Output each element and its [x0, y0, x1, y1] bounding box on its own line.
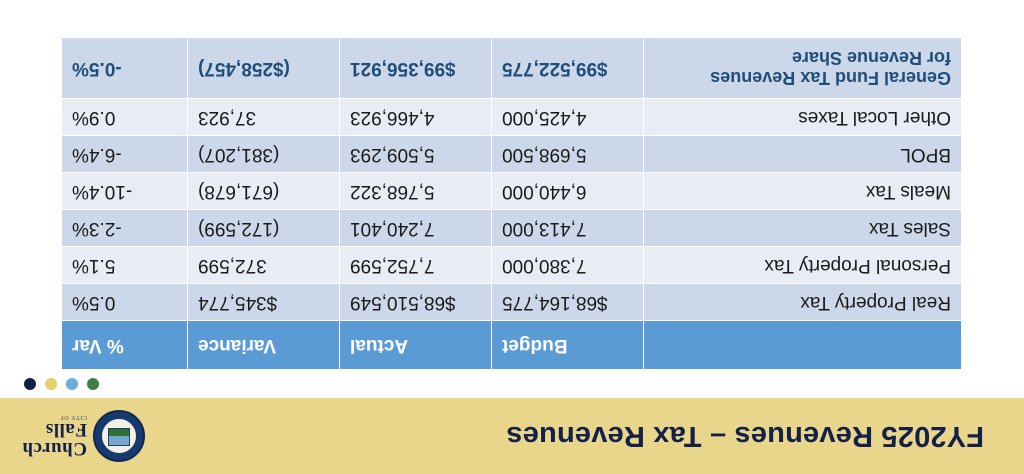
row-variance: (172,599): [188, 210, 340, 247]
table-row: Sales Tax 7,413,000 7,240,401 (172,599) …: [62, 210, 962, 247]
row-budget: 4,425,000: [492, 99, 644, 136]
column-header-budget: Budget: [492, 321, 644, 370]
table-total-row: General Fund Tax Revenues for Revenue Sh…: [62, 38, 962, 99]
city-seal-icon: [93, 410, 145, 462]
table-row: Real Property Tax $68,164,775 $68,510,54…: [62, 284, 962, 321]
table-row: Personal Property Tax 7,380,000 7,752,59…: [62, 247, 962, 284]
table-row: Other Local Taxes 4,425,000 4,466,923 37…: [62, 99, 962, 136]
column-header-actual: Actual: [340, 321, 492, 370]
row-actual: 7,240,401: [340, 210, 492, 247]
dot-blue: [66, 378, 78, 390]
logo-subtitle: CITY OF: [22, 414, 87, 420]
row-label: BPOL: [644, 136, 962, 173]
organization-logo: Church Falls CITY OF: [22, 410, 145, 462]
table-footer: General Fund Tax Revenues for Revenue Sh…: [62, 38, 962, 99]
dot-navy: [24, 378, 36, 390]
row-variance: (381,207): [188, 136, 340, 173]
logo-wordmark: Church Falls CITY OF: [22, 414, 87, 459]
table-row: Meals Tax 6,440,000 5,768,322 (671,678) …: [62, 173, 962, 210]
row-variance: $345,774: [188, 284, 340, 321]
row-pct-var: -2.3%: [62, 210, 188, 247]
row-budget: 7,380,000: [492, 247, 644, 284]
row-variance: 37,923: [188, 99, 340, 136]
row-label: Other Local Taxes: [644, 99, 962, 136]
row-label: Personal Property Tax: [644, 247, 962, 284]
row-variance: (671,678): [188, 173, 340, 210]
row-pct-var: 5.1%: [62, 247, 188, 284]
total-label-line-1: General Fund Tax Revenues: [654, 68, 951, 88]
dot-green: [87, 378, 99, 390]
table-header-row: Budget Actual Variance % Var: [62, 321, 962, 370]
row-pct-var: -6.4%: [62, 136, 188, 173]
row-actual: 4,466,923: [340, 99, 492, 136]
title-band: FY2025 Revenues – Tax Revenues Church Fa…: [0, 398, 1024, 474]
row-pct-var: -10.4%: [62, 173, 188, 210]
decorative-dots: [24, 378, 99, 390]
total-pct-var: -0.5%: [62, 38, 188, 99]
logo-word-church: Church: [22, 439, 87, 458]
column-header-category: [644, 321, 962, 370]
row-budget: 7,413,000: [492, 210, 644, 247]
row-actual: 5,509,293: [340, 136, 492, 173]
row-budget: 5,698,500: [492, 136, 644, 173]
slide-rotation-wrapper: FY2025 Revenues – Tax Revenues Church Fa…: [0, 0, 1024, 474]
total-variance: ($258,457): [188, 38, 340, 99]
table-body: Real Property Tax $68,164,775 $68,510,54…: [62, 99, 962, 321]
row-budget: 6,440,000: [492, 173, 644, 210]
tax-revenues-table-container: Budget Actual Variance % Var Real Proper…: [62, 37, 962, 370]
row-actual: $68,510,549: [340, 284, 492, 321]
table-row: BPOL 5,698,500 5,509,293 (381,207) -6.4%: [62, 136, 962, 173]
presentation-slide: FY2025 Revenues – Tax Revenues Church Fa…: [0, 0, 1024, 474]
total-actual: $99,356,921: [340, 38, 492, 99]
row-label: Sales Tax: [644, 210, 962, 247]
row-actual: 7,752,599: [340, 247, 492, 284]
dot-yellow: [45, 378, 57, 390]
row-variance: 372,599: [188, 247, 340, 284]
row-pct-var: 0.5%: [62, 284, 188, 321]
page-title: FY2025 Revenues – Tax Revenues: [506, 420, 984, 453]
table-header: Budget Actual Variance % Var: [62, 321, 962, 370]
column-header-variance: Variance: [188, 321, 340, 370]
seal-emblem: [108, 428, 130, 446]
logo-word-falls: Falls: [22, 420, 87, 439]
row-actual: 5,768,322: [340, 173, 492, 210]
column-header-pct-var: % Var: [62, 321, 188, 370]
row-budget: $68,164,775: [492, 284, 644, 321]
tax-revenues-table: Budget Actual Variance % Var Real Proper…: [61, 37, 962, 370]
total-label: General Fund Tax Revenues for Revenue Sh…: [644, 38, 962, 99]
row-label: Meals Tax: [644, 173, 962, 210]
total-label-line-2: for Revenue Share: [654, 48, 951, 68]
row-pct-var: 0.9%: [62, 99, 188, 136]
total-budget: $99,522,775: [492, 38, 644, 99]
row-label: Real Property Tax: [644, 284, 962, 321]
